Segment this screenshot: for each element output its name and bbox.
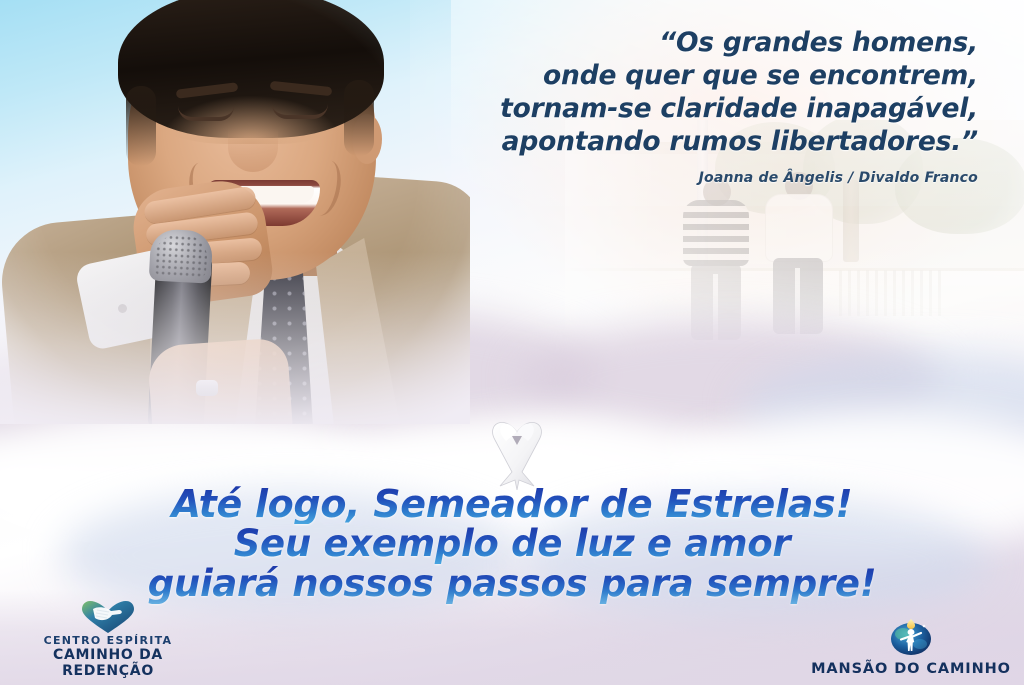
memorial-poster: “Os grandes homens, onde quer que se enc… [0,0,1024,685]
logo-mansao-do-caminho: MANSÃO DO CAMINHO [806,617,1016,677]
globe-figure-flame-icon [888,617,934,659]
headline-line-3: guiará nossos passos para sempre! [0,564,1024,604]
headline-block: Até logo, Semeador de Estrelas! Seu exem… [0,484,1024,604]
quote-line-1: “Os grandes homens, [418,26,978,59]
heart-hand-icon [81,600,135,634]
portrait-photo [0,0,470,424]
quote-line-2: onde quer que se encontrem, [418,59,978,92]
headline-line-1: Até logo, Semeador de Estrelas! [0,484,1024,524]
quote-line-3: tornam-se claridade inapagável, [418,92,978,125]
logo-centro-espirita: CENTRO ESPÍRITA CAMINHO DA REDENÇÃO [8,600,208,679]
headline-line-2: Seu exemplo de luz e amor [0,524,1024,564]
portrait-bottom-fade [0,0,470,424]
mourning-ribbon-icon [482,412,552,490]
quote-line-4: apontando rumos libertadores.” [418,125,978,158]
logo-left-line-1: CENTRO ESPÍRITA [8,634,208,647]
quote-attribution: Joanna de Ângelis / Divaldo Franco [418,170,978,186]
logo-left-line-2: CAMINHO DA REDENÇÃO [8,647,208,679]
quote-block: “Os grandes homens, onde quer que se enc… [418,26,978,186]
logo-right-line-1: MANSÃO DO CAMINHO [806,661,1016,677]
